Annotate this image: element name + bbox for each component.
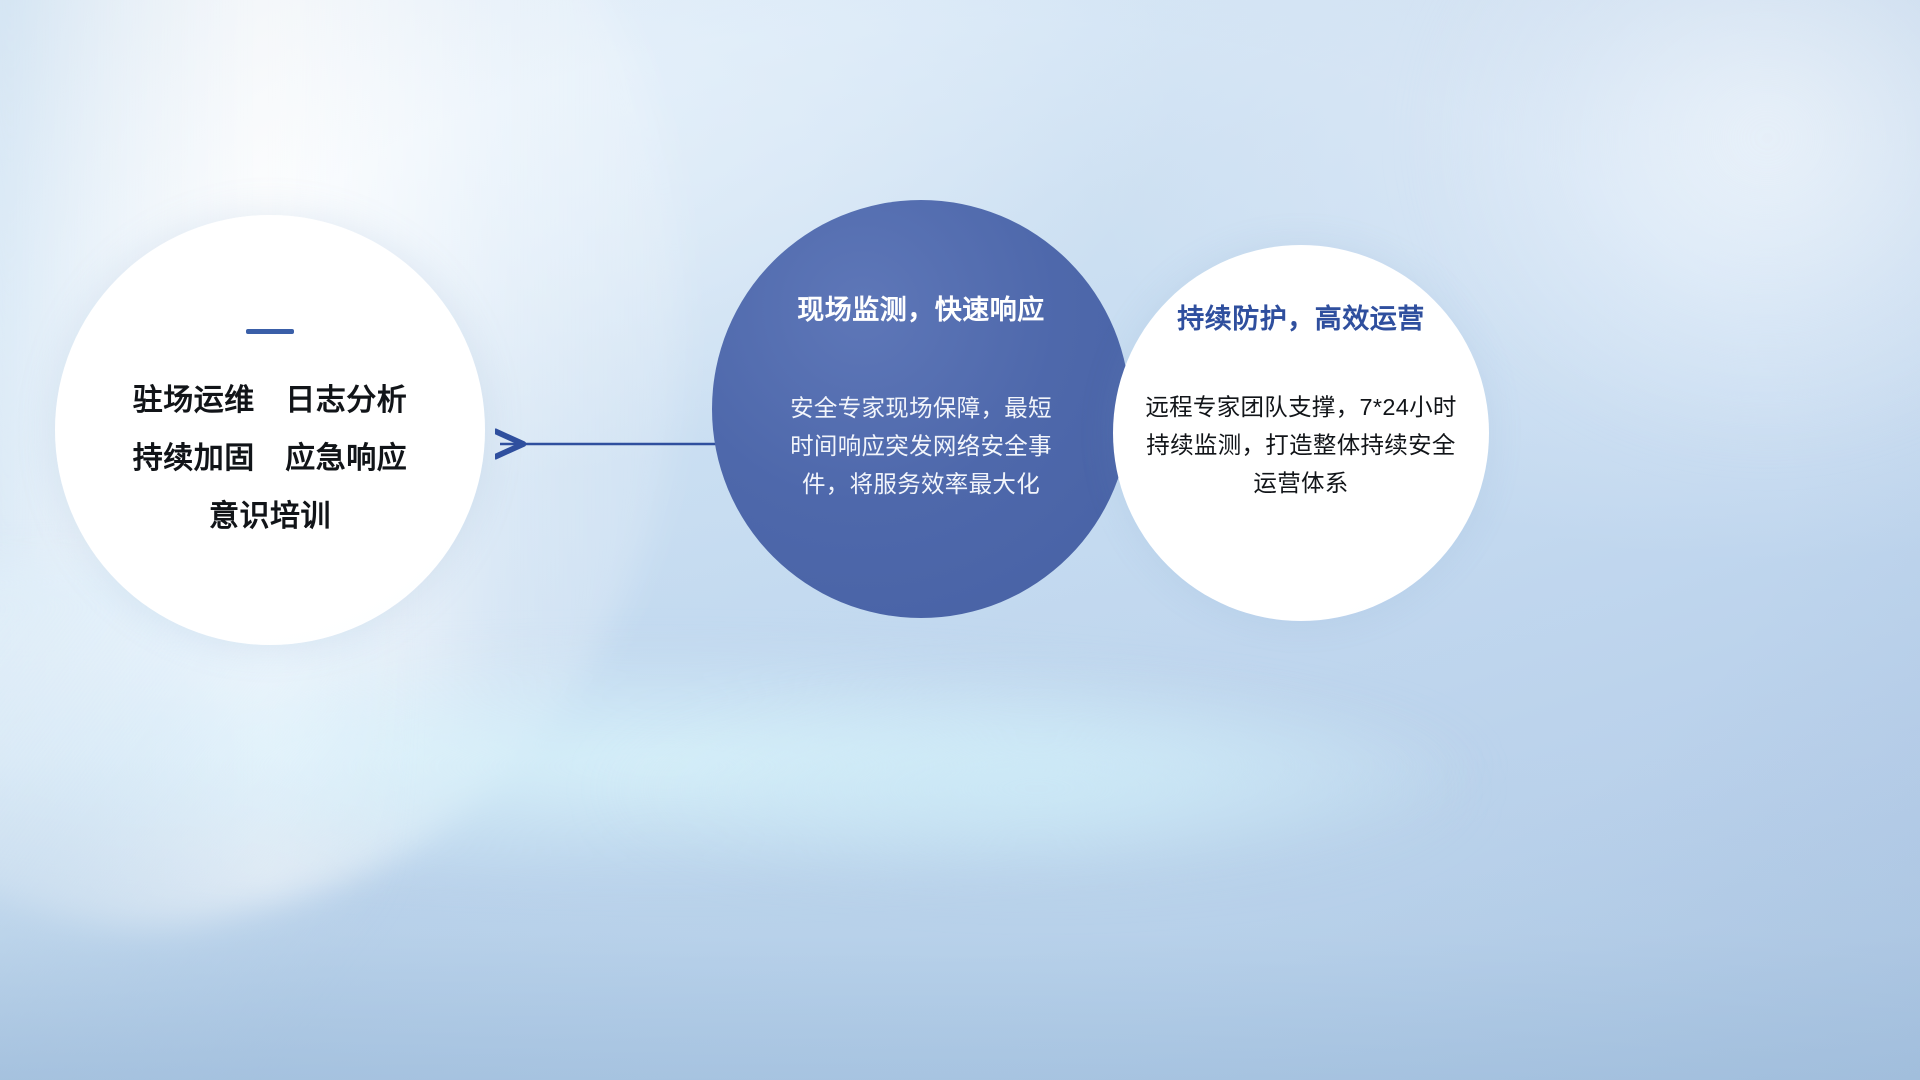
capability-line: 驻场运维 日志分析: [133, 386, 408, 416]
node-onsite-body: 安全专家现场保障，最短时间响应突发网络安全事件，将服务效率最大化: [786, 389, 1056, 503]
dash-accent-icon: [246, 329, 294, 334]
node-capabilities[interactable]: 驻场运维 日志分析 持续加固 应急响应 意识培训: [55, 215, 485, 645]
connector-arrow: [470, 408, 730, 480]
capability-line: 持续加固 应急响应: [133, 444, 408, 474]
node-continuous-title: 持续防护，高效运营: [1177, 297, 1425, 336]
capability-list: 驻场运维 日志分析 持续加固 应急响应 意识培训: [133, 386, 408, 532]
node-continuous-operation[interactable]: 持续防护，高效运营 远程专家团队支撑，7*24小时持续监测，打造整体持续安全运营…: [1113, 245, 1489, 621]
node-onsite-monitoring[interactable]: 现场监测，快速响应 安全专家现场保障，最短时间响应突发网络安全事件，将服务效率最…: [712, 200, 1130, 618]
node-continuous-body: 远程专家团队支撑，7*24小时持续监测，打造整体持续安全运营体系: [1136, 388, 1466, 502]
capability-line: 意识培训: [133, 502, 408, 532]
diagram-root: 驻场运维 日志分析 持续加固 应急响应 意识培训 现场监测，快速响应 安全专家现…: [0, 0, 1920, 1080]
node-onsite-title: 现场监测，快速响应: [797, 288, 1045, 327]
